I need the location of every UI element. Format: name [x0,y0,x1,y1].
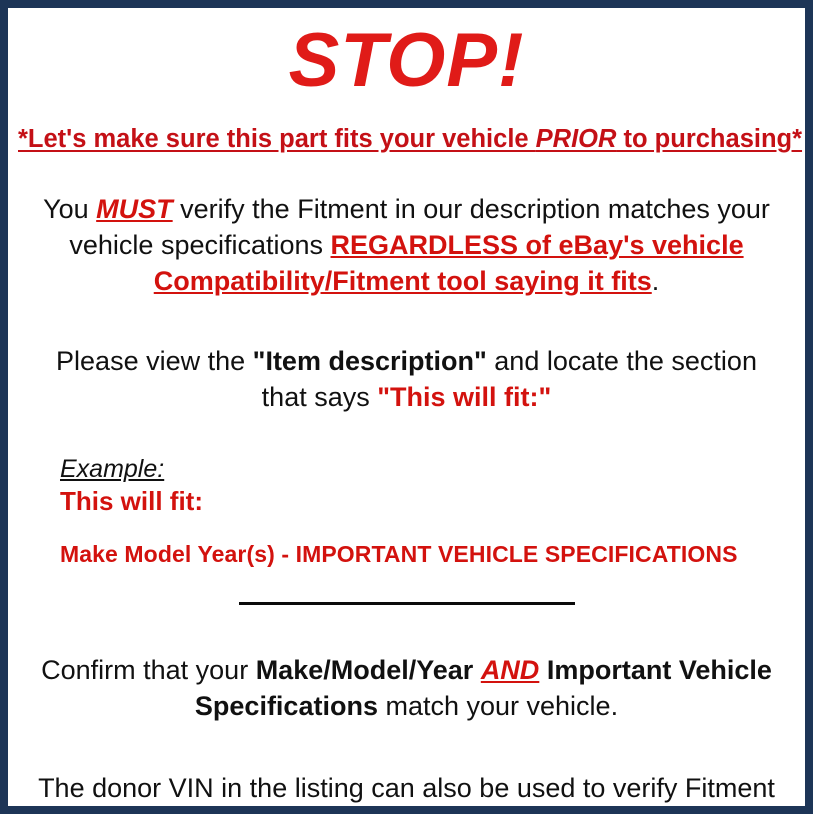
and-emphasis: AND [481,655,540,685]
fitment-tagline: *Let's make sure this part fits your veh… [18,125,795,154]
notice-content: STOP! *Let's make sure this part fits yo… [8,8,805,806]
confirm-text-part1: Confirm that your [41,655,256,685]
verify-fitment-paragraph: You MUST verify the Fitment in our descr… [18,192,795,300]
example-fitment-line: Make Model Year(s) - IMPORTANT VEHICLE S… [18,541,795,569]
item-description-label: "Item description" [253,346,487,376]
verify-text-part1: You [43,194,96,224]
stop-headline: STOP! [18,14,795,103]
verify-text-part3: . [652,266,660,296]
confirm-text-part2: match your vehicle. [378,691,618,721]
item-description-paragraph: Please view the "Item description" and l… [18,344,795,416]
this-will-fit-quote: "This will fit:" [377,382,551,412]
donor-vin-paragraph: The donor VIN in the listing can also be… [18,771,795,814]
must-emphasis: MUST [96,194,173,224]
example-label: Example: [60,454,164,484]
confirm-paragraph: Confirm that your Make/Model/Year AND Im… [18,653,795,725]
tagline-tail: to purchasing* [616,125,802,153]
example-block: Example: This will fit: [18,454,795,517]
divider-row [18,595,795,613]
horizontal-divider [239,602,575,605]
example-will-fit-heading: This will fit: [60,486,795,517]
please-text-part1: Please view the [56,346,253,376]
tagline-prior-emphasis: PRIOR [536,125,617,153]
fitment-notice-card: STOP! *Let's make sure this part fits yo… [0,0,813,814]
make-model-year-label: Make/Model/Year [256,655,474,685]
tagline-lead: *Let's make sure this part fits your veh… [18,125,536,153]
